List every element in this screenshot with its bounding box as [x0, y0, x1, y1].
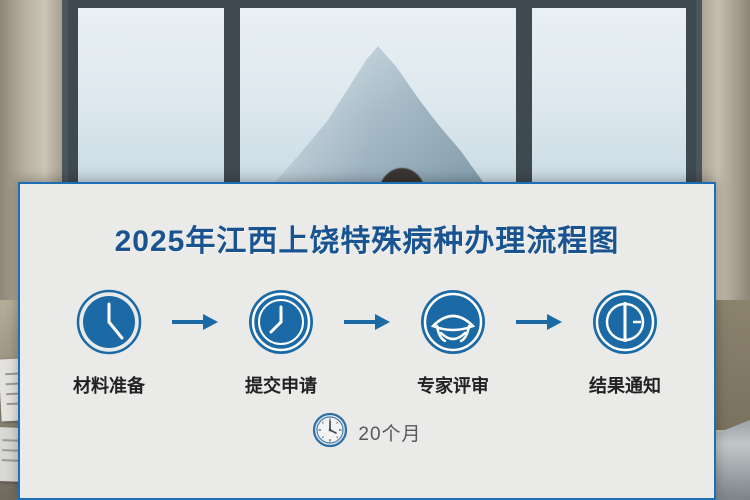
- sky-right: [532, 8, 686, 186]
- window-pane-center: [240, 8, 516, 186]
- screenshot-stage: 2025年江西上饶特殊病种办理流程图 材料准备: [0, 0, 750, 500]
- window-frame: [62, 0, 702, 196]
- flow-step-1[interactable]: 材料准备: [49, 286, 169, 398]
- flow-step-4[interactable]: 结果通知: [565, 286, 685, 398]
- duration-text: 20个月: [358, 419, 421, 446]
- clock-notify-icon: [589, 286, 661, 358]
- flowchart-card: 2025年江西上饶特殊病种办理流程图 材料准备: [18, 182, 716, 500]
- flow-step-2-label: 提交申请: [245, 372, 317, 398]
- flow-step-2[interactable]: 提交申请: [221, 286, 341, 398]
- arrow-right-icon-2: [341, 286, 393, 358]
- page-title: 2025年江西上饶特殊病种办理流程图: [20, 216, 714, 260]
- duration-footer: 20个月: [20, 412, 714, 453]
- flow-step-3-label: 专家评审: [417, 372, 489, 398]
- window-pane-right: [532, 8, 686, 186]
- flow-step-4-label: 结果通知: [589, 372, 661, 398]
- flow-step-3[interactable]: 专家评审: [393, 286, 513, 398]
- clock-ring-icon: [245, 286, 317, 358]
- arrow-right-icon-3: [513, 286, 565, 358]
- window-pane-left: [78, 8, 224, 186]
- dome-review-icon: [417, 286, 489, 358]
- arrow-right-icon-1: [169, 286, 221, 358]
- clock-icon: [73, 286, 145, 358]
- process-flow: 材料准备: [20, 286, 714, 398]
- sky-left: [78, 8, 224, 186]
- clock-face-icon: [312, 412, 348, 453]
- flow-step-1-label: 材料准备: [73, 372, 145, 398]
